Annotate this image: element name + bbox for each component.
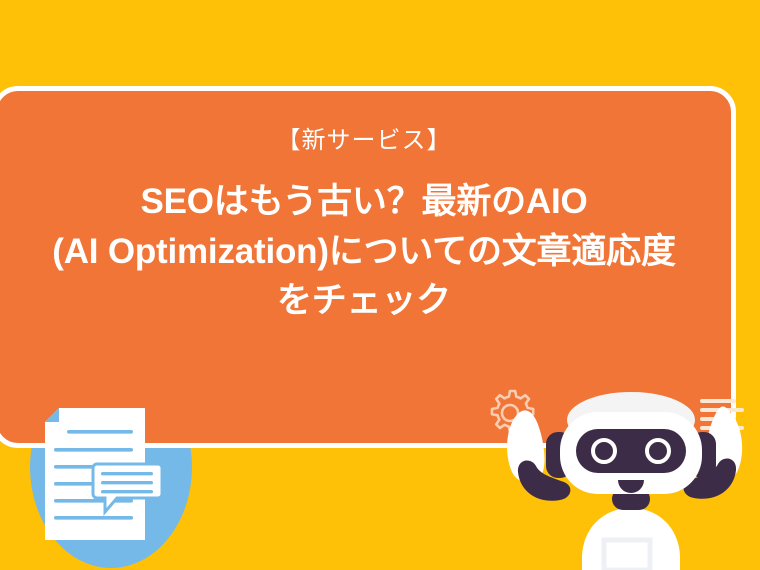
page-title: SEOはもう古い？最新のAIO (AI Optimization)についての文章…	[3, 177, 725, 326]
headline-line-2: (AI Optimization)についての文章適応度	[3, 227, 725, 277]
document-with-chat-bubble-icon	[45, 408, 163, 540]
promo-banner: 【新サービス】 SEOはもう古い？最新のAIO (AI Optimization…	[0, 0, 760, 570]
headline-line-3: をチェック	[3, 276, 725, 326]
robot-mascot	[498, 388, 760, 570]
headline-line-1: SEOはもう古い？最新のAIO	[3, 177, 725, 227]
eyebrow-label: 【新サービス】	[0, 127, 731, 156]
